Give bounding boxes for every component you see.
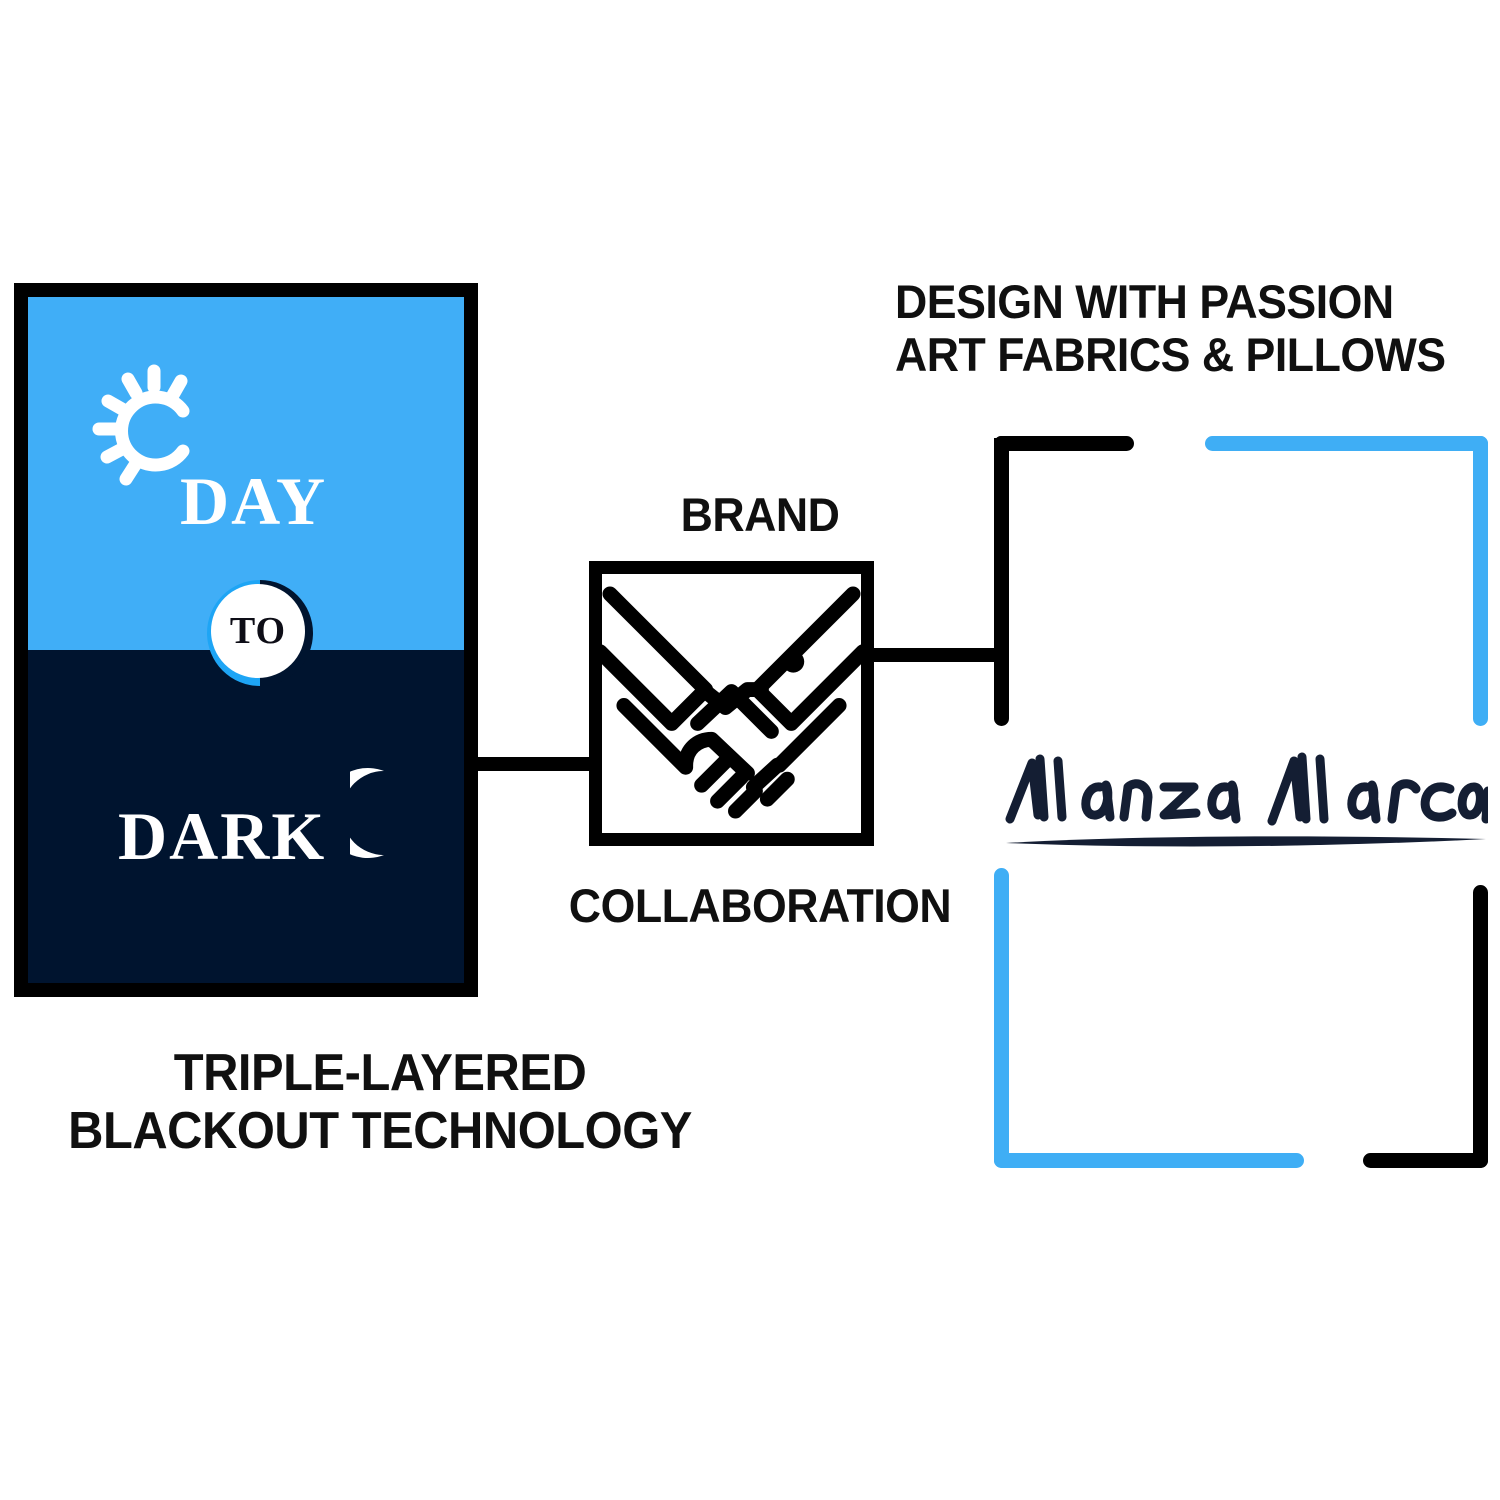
bracket-bottom-left-blue — [994, 868, 1304, 1168]
day-label: DAY — [180, 467, 327, 535]
signature-underline — [1006, 836, 1486, 846]
brand-label: BRAND — [570, 487, 950, 542]
product-caption-line2: BLACKOUT TECHNOLOGY — [23, 1102, 737, 1160]
bracket-top-left-black — [994, 436, 1134, 726]
infographic-canvas: DAY TO DARK TRIPLE-LAYERED BLACKOUT TECH… — [0, 0, 1500, 1500]
bracket-bottom-right-black — [1363, 885, 1488, 1168]
handshake-icon-box — [589, 561, 874, 846]
right-headline-line1: DESIGN WITH PASSION — [895, 276, 1465, 329]
signature-icon — [988, 735, 1488, 860]
right-headline: DESIGN WITH PASSION ART FABRICS & PILLOW… — [895, 276, 1465, 381]
product-caption-line1: TRIPLE-LAYERED — [23, 1044, 737, 1102]
dark-label: DARK — [118, 802, 326, 870]
sleeve-button-dot — [782, 651, 804, 673]
product-panel-inner: DAY TO DARK — [28, 297, 464, 983]
bracket-top-right-blue — [1205, 436, 1488, 726]
product-panel: DAY TO DARK — [14, 283, 478, 997]
to-label: TO — [230, 609, 286, 653]
crescent-moon-icon — [350, 765, 446, 861]
signature — [988, 735, 1488, 860]
to-badge-core: TO — [211, 584, 305, 678]
collaboration-label: COLLABORATION — [475, 878, 1045, 933]
product-caption: TRIPLE-LAYERED BLACKOUT TECHNOLOGY — [23, 1044, 737, 1160]
right-headline-line2: ART FABRICS & PILLOWS — [895, 329, 1465, 382]
to-badge: TO — [207, 580, 313, 686]
connector-panel-to-brand — [470, 757, 595, 771]
connector-brand-to-riser — [866, 648, 1008, 662]
handshake-icon — [602, 574, 861, 833]
